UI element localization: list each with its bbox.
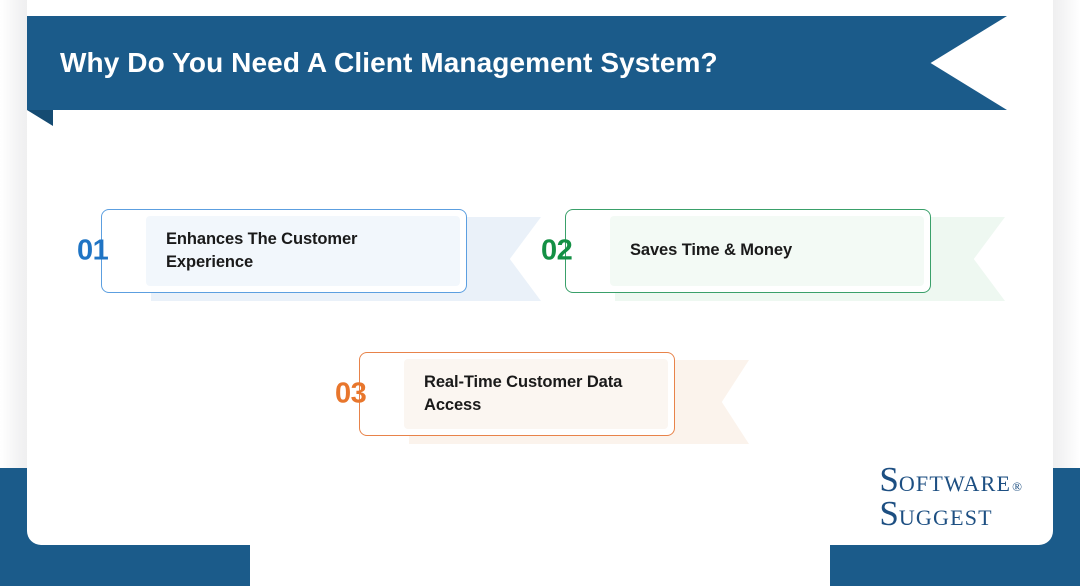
card-label: Enhances The Customer Experience [166,228,448,275]
logo-line-two: S UGGEST [879,497,1022,531]
card-label: Saves Time & Money [630,239,792,262]
logo-suggest-text: UGGEST [899,507,993,528]
logo-line-one: S OFTWARE ® [879,463,1022,497]
registered-trademark-icon: ® [1012,481,1022,493]
card-label: Real-Time Customer Data Access [424,371,656,418]
header-ribbon: Why Do You Need A Client Management Syst… [27,16,1007,110]
logo-software-text: OFTWARE [899,473,1011,494]
softwaresuggest-logo: S OFTWARE ® S UGGEST [879,463,1022,531]
card-body: 02 Saves Time & Money [565,209,931,293]
ribbon-banner: Why Do You Need A Client Management Syst… [27,16,1007,110]
logo-s-capital-two: S [879,497,898,531]
card-number: 03 [335,380,366,409]
logo-s-capital: S [879,463,898,497]
card-inner-panel: Saves Time & Money [610,216,924,286]
card-body: 01 Enhances The Customer Experience [101,209,467,293]
infographic-canvas: Why Do You Need A Client Management Syst… [0,0,1080,586]
page-title: Why Do You Need A Client Management Syst… [27,47,718,79]
card-number: 01 [77,237,108,266]
card-inner-panel: Enhances The Customer Experience [146,216,460,286]
card-inner-panel: Real-Time Customer Data Access [404,359,668,429]
card-body: 03 Real-Time Customer Data Access [359,352,675,436]
card-number: 02 [541,237,572,266]
